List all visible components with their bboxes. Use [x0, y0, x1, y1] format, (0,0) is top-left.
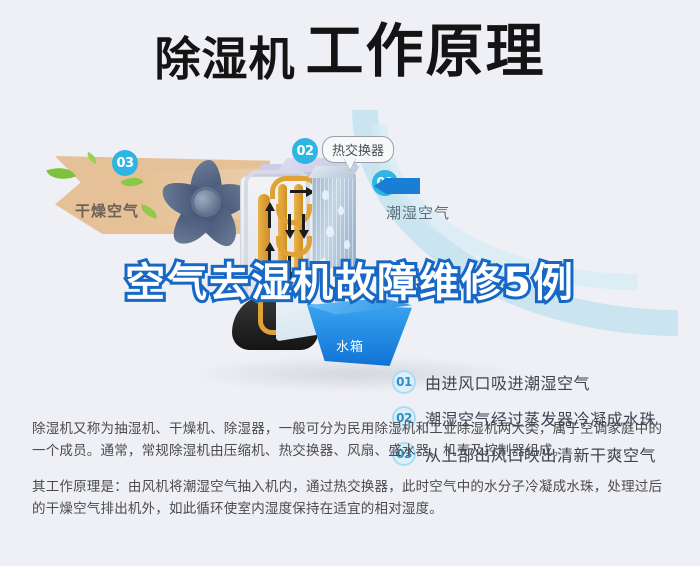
page-title-part1: 除湿机: [154, 32, 295, 86]
dehumidifier-diagram: 干燥空气 03 潮湿空气 01: [0, 118, 700, 398]
flow-arrow-down-icon: [299, 230, 309, 239]
flow-arrow-down-icon: [285, 230, 295, 239]
page-title: 除湿机工作原理: [0, 22, 700, 82]
callout-tail-icon: [344, 158, 356, 170]
water-droplet-icon: [344, 240, 350, 249]
overlay-headline: 空气去湿机故障维修5例: [0, 263, 700, 303]
water-droplet-icon: [322, 190, 329, 200]
water-tank-label: 水箱: [336, 336, 364, 355]
flow-arrow-stem: [288, 214, 291, 230]
poster-root: 除湿机工作原理 干燥空气 03 潮湿空气 01: [0, 0, 700, 566]
body-paragraph-1: 除湿机又称为抽湿机、干燥机、除湿器，一般可分为民用除湿机和工业除湿机两大类，属于…: [32, 418, 672, 462]
badge-02: 02: [292, 138, 318, 164]
humid-air-label: 潮湿空气: [386, 202, 450, 223]
heat-exchanger-callout: 热交换器: [322, 136, 394, 163]
flow-arrow-up-icon: [265, 202, 275, 211]
fan-icon: [160, 156, 252, 248]
dry-air-label: 干燥空气: [75, 200, 139, 221]
water-droplet-icon: [326, 226, 334, 237]
article-body: 除湿机又称为抽湿机、干燥机、除湿器，一般可分为民用除湿机和工业除湿机两大类，属于…: [32, 418, 672, 534]
water-droplet-icon: [338, 206, 344, 215]
flow-arrow-up-icon: [265, 242, 275, 251]
legend-item: 01 由进风口吸进潮湿空气: [392, 364, 692, 400]
body-paragraph-2: 其工作原理是：由风机将潮湿空气抽入机内，通过热交换器，此时空气中的水分子冷凝成水…: [32, 476, 672, 520]
flow-arrow-stem: [302, 214, 305, 230]
page-title-part2: 工作原理: [305, 17, 545, 85]
badge-03: 03: [112, 150, 138, 176]
flow-arrow-stem: [290, 190, 306, 193]
flow-arrow-stem: [268, 210, 271, 228]
legend-label: 由进风口吸进潮湿空气: [425, 370, 590, 394]
legend-badge: 01: [392, 370, 416, 394]
